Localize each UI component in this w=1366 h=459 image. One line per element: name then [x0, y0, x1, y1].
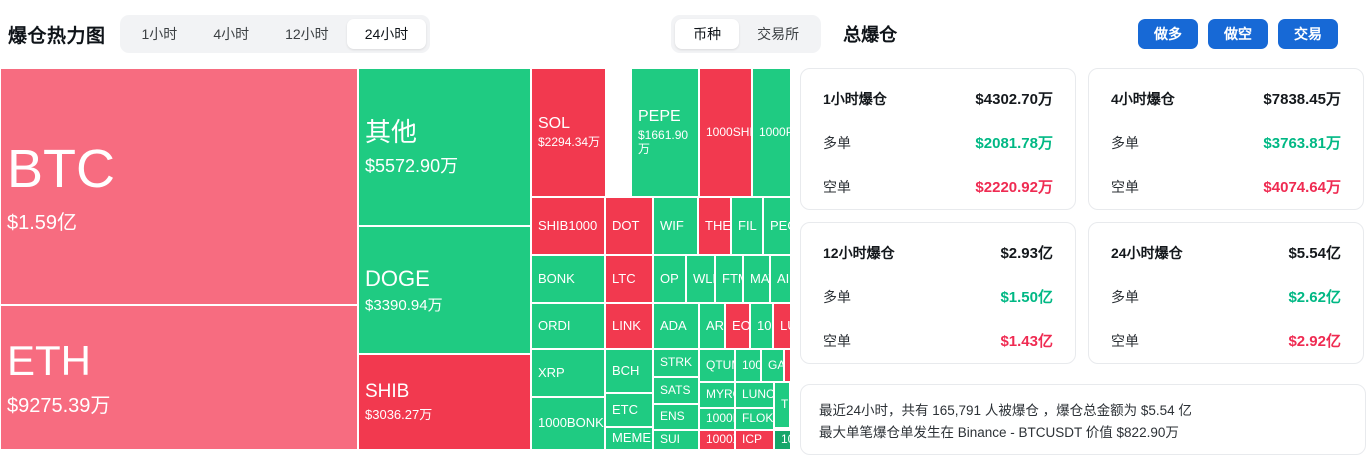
tile-value: $3390.94万 [365, 297, 530, 314]
stats-panel: 24小时爆仓$5.54亿多单$2.62亿空单$2.92亿12小时爆仓$2.93亿… [800, 68, 1366, 459]
tile-symbol: OP [660, 272, 685, 287]
treemap-tile-MEME[interactable]: MEME [605, 427, 653, 450]
tile-symbol: MYRO [706, 388, 734, 402]
treemap-tile-WIF[interactable]: WIF [653, 197, 698, 255]
treemap-tile-1000FLOKI[interactable]: 1000FLOKI [774, 430, 790, 450]
tile-symbol: THETA [705, 219, 730, 234]
stat-period-label: 12小时爆仓 [823, 243, 895, 263]
treemap-tile-ENS[interactable]: ENS [653, 404, 699, 430]
tile-symbol: 1000BONK [538, 416, 604, 431]
treemap-tile-PEOPLE[interactable]: PEOPLE [763, 197, 790, 255]
tile-symbol: AIDOGE [777, 272, 790, 287]
tile-value: $9275.39万 [7, 395, 357, 418]
tile-symbol: BONK [538, 272, 604, 287]
treemap-tile-QTUM[interactable]: QTUM [699, 349, 735, 382]
treemap-tile-DOGE[interactable]: DOGE$3390.94万 [358, 226, 531, 354]
summary-line-2: 最大单笔爆仓单发生在 Binance - BTCUSDT 价值 $822.90万 [819, 422, 1347, 444]
tile-symbol: SHIB [365, 381, 530, 403]
treemap-tile-AIDOGE[interactable]: AIDOGE [770, 255, 790, 303]
treemap-tile-ETC[interactable]: ETC [605, 393, 653, 427]
tile-symbol: 1000FLOKI [781, 433, 790, 447]
tile-symbol: LTC [612, 272, 652, 287]
tile-symbol: XRP [538, 366, 604, 381]
stat-short-value: $2.92亿 [1288, 330, 1341, 351]
tile-symbol: DOGE [365, 266, 530, 291]
tile-symbol: 1000SATS [757, 319, 772, 334]
stat-card-4小时爆仓: 4小时爆仓$7838.45万多单$3763.81万空单$4074.64万 [1088, 68, 1364, 210]
treemap-tile-SUI[interactable]: SUI [653, 430, 699, 450]
stat-row-long: 多单$1.50亿 [823, 286, 1053, 307]
treemap-tile-SOL[interactable]: SOL$2294.34万 [531, 68, 606, 197]
stat-total-value: $4302.70万 [975, 88, 1053, 109]
tile-symbol: GALA [768, 359, 783, 373]
stat-total-value: $2.93亿 [1000, 242, 1053, 263]
liquidation-heatmap-page: 爆仓热力图 1小时4小时12小时24小时 币种交易所 总爆仓 做多做空交易 BT… [0, 0, 1366, 459]
stat-card-12小时爆仓: 12小时爆仓$2.93亿多单$1.50亿空单$1.43亿 [800, 222, 1076, 364]
tile-symbol: LUNA [780, 319, 790, 334]
timeframe-tab-24小时[interactable]: 24小时 [347, 19, 427, 49]
treemap-tile-其他[interactable]: 其他$5572.90万 [358, 68, 531, 226]
action-button-做多[interactable]: 做多 [1138, 19, 1198, 49]
stat-row-long: 多单$3763.81万 [1111, 132, 1341, 153]
header-action-buttons: 做多做空交易 [1138, 19, 1350, 49]
tile-symbol: ICP [742, 433, 773, 447]
tile-symbol: BTC [7, 138, 357, 200]
tile-symbol: 1000BTT [742, 359, 760, 373]
stat-row-short: 空单$2.92亿 [1111, 330, 1341, 351]
treemap-tile-SATS[interactable]: SATS [653, 377, 699, 404]
tile-symbol: MATIC [750, 272, 769, 287]
treemap-tile-ETH[interactable]: ETH$9275.39万 [0, 305, 358, 450]
tile-symbol: BCH [612, 364, 652, 379]
stat-row-short: 空单$1.43亿 [823, 330, 1053, 351]
tile-value: $1661.90万 [638, 129, 698, 157]
liquidation-treemap[interactable]: BTC$1.59亿ETH$9275.39万其他$5572.90万DOGE$339… [0, 68, 790, 450]
timeframe-tab-4小时[interactable]: 4小时 [195, 19, 267, 49]
stat-short-value: $2220.92万 [975, 176, 1053, 197]
tile-symbol: WIF [660, 219, 697, 234]
treemap-tile-FIL[interactable]: FIL [731, 197, 763, 255]
stat-card-24小时爆仓: 24小时爆仓$5.54亿多单$2.62亿空单$2.92亿 [1088, 222, 1364, 364]
treemap-tile-LINK[interactable]: LINK [605, 303, 653, 349]
tile-symbol: SOL [538, 115, 605, 133]
tile-symbol: ETC [612, 403, 652, 418]
stat-long-value: $3763.81万 [1263, 132, 1341, 153]
tile-symbol: SUI [660, 433, 698, 447]
tile-symbol: WLD [693, 272, 714, 287]
treemap-tile-MATIC[interactable]: MATIC [743, 255, 770, 303]
treemap-tile-SHIB[interactable]: SHIB$3036.27万 [358, 354, 531, 450]
stat-row-total: 4小时爆仓$7838.45万 [1111, 88, 1341, 109]
action-button-交易[interactable]: 交易 [1278, 19, 1338, 49]
tile-symbol: LINK [612, 319, 652, 334]
stat-long-label: 多单 [823, 287, 851, 307]
tile-symbol: FTM [722, 272, 742, 287]
stat-long-value: $1.50亿 [1000, 286, 1053, 307]
tile-symbol: ORDI [538, 319, 604, 334]
treemap-tile-1000PEPE[interactable]: 1000PEPE$1173.00万 [752, 68, 790, 197]
page-title: 爆仓热力图 [8, 21, 106, 48]
tile-symbol: TIA [781, 398, 789, 412]
treemap-tile-BCH[interactable]: BCH [605, 349, 653, 393]
tile-value: $5572.90万 [365, 156, 530, 177]
stat-period-label: 4小时爆仓 [1111, 89, 1175, 109]
treemap-tile-1000SHIB[interactable]: 1000SHIB$1266.00万 [699, 68, 752, 197]
tile-symbol: 1000PEPE [759, 126, 790, 140]
treemap-tile-1000RATS[interactable]: 1000RATS [699, 408, 735, 430]
tile-symbol: PEOPLE [770, 219, 790, 234]
treemap-tile-XRP[interactable]: XRP [531, 349, 605, 397]
treemap-tile-BONK[interactable]: BONK [531, 255, 605, 303]
treemap-tile-ARB[interactable]: ARB [699, 303, 725, 349]
treemap-tile-1000BTT[interactable]: 1000BTT [735, 349, 761, 382]
treemap-tile-TIA[interactable]: TIA [774, 382, 790, 428]
grouping-tab-group: 币种交易所 [671, 15, 821, 53]
stat-card-1小时爆仓: 1小时爆仓$4302.70万多单$2081.78万空单$2220.92万 [800, 68, 1076, 210]
stat-long-label: 多单 [1111, 287, 1139, 307]
treemap-tile-ADA[interactable]: ADA [653, 303, 699, 349]
treemap-tile-FTM[interactable]: FTM [715, 255, 743, 303]
grouping-tab-交易所[interactable]: 交易所 [739, 19, 817, 49]
treemap-tile-GALA[interactable]: GALA [761, 349, 784, 382]
tile-symbol: SHIB1000 [538, 219, 604, 234]
tile-symbol: 其他 [365, 118, 530, 148]
stat-short-value: $1.43亿 [1000, 330, 1053, 351]
tile-symbol: ARB [706, 319, 724, 334]
tile-value: $3036.27万 [365, 408, 530, 423]
tile-symbol: LUNC [742, 388, 773, 402]
tile-symbol: ENS [660, 410, 698, 424]
summary-line-1: 最近24小时，共有 165,791 人被爆仓 ，爆仓总金额为 $5.54 亿 [819, 400, 1347, 422]
stat-total-value: $5.54亿 [1288, 242, 1341, 263]
grouping-tab-币种[interactable]: 币种 [675, 19, 739, 49]
treemap-tile-BTC[interactable]: BTC$1.59亿 [0, 68, 358, 305]
treemap-tile-1000XEC[interactable]: 1000XEC [699, 430, 735, 450]
stat-row-total: 24小时爆仓$5.54亿 [1111, 242, 1341, 263]
treemap-tile-OP[interactable]: OP [653, 255, 686, 303]
treemap-tile-LTC[interactable]: LTC [605, 255, 653, 303]
page-header: 爆仓热力图 1小时4小时12小时24小时 币种交易所 总爆仓 做多做空交易 [0, 0, 1366, 68]
tile-symbol: 1000XEC [706, 433, 734, 447]
treemap-tile-DYDX[interactable]: DYDX [784, 349, 790, 382]
summary-card: 最近24小时，共有 165,791 人被爆仓 ，爆仓总金额为 $5.54 亿 最… [800, 384, 1366, 455]
treemap-tile-1000BONK[interactable]: 1000BONK [531, 397, 605, 450]
tile-symbol: PEPE [638, 108, 698, 126]
tile-symbol: SATS [660, 384, 698, 398]
tile-symbol: ETH [7, 337, 357, 385]
stat-short-label: 空单 [823, 177, 851, 197]
header-center-group: 币种交易所 总爆仓 [671, 15, 897, 53]
stat-long-label: 多单 [1111, 133, 1139, 153]
tile-symbol: 1000SHIB [706, 126, 751, 140]
stat-row-long: 多单$2081.78万 [823, 132, 1053, 153]
stat-row-total: 1小时爆仓$4302.70万 [823, 88, 1053, 109]
stat-period-label: 1小时爆仓 [823, 89, 887, 109]
stat-short-label: 空单 [1111, 177, 1139, 197]
treemap-tile-STRK[interactable]: STRK [653, 349, 699, 377]
treemap-tile-ORDI[interactable]: ORDI [531, 303, 605, 349]
treemap-tile-SHIB1000[interactable]: SHIB1000 [531, 197, 605, 255]
tile-symbol: DOT [612, 219, 652, 234]
stat-short-label: 空单 [823, 331, 851, 351]
treemap-tile-WLD[interactable]: WLD [686, 255, 715, 303]
stat-long-value: $2.62亿 [1288, 286, 1341, 307]
treemap-tile-PEPE[interactable]: PEPE$1661.90万 [631, 68, 699, 197]
stat-row-short: 空单$2220.92万 [823, 176, 1053, 197]
treemap-tile-ICP[interactable]: ICP [735, 430, 774, 450]
timeframe-tab-1小时[interactable]: 1小时 [124, 19, 196, 49]
stat-row-long: 多单$2.62亿 [1111, 286, 1341, 307]
treemap-tile-THETA[interactable]: THETA [698, 197, 731, 255]
treemap-tile-FLOKI[interactable]: FLOKI [735, 408, 774, 430]
tile-symbol: MEME [612, 431, 652, 446]
stat-short-label: 空单 [1111, 331, 1139, 351]
tile-symbol: EOS [732, 319, 749, 334]
tile-value: $2294.34万 [538, 136, 605, 150]
tile-symbol: STRK [660, 356, 698, 370]
stat-long-value: $2081.78万 [975, 132, 1053, 153]
timeframe-tab-group: 1小时4小时12小时24小时 [120, 15, 431, 53]
tile-symbol: FLOKI [742, 412, 773, 426]
tile-symbol: FIL [738, 219, 762, 234]
treemap-tile-1000SATS[interactable]: 1000SATS [750, 303, 773, 349]
timeframe-tab-12小时[interactable]: 12小时 [267, 19, 347, 49]
tile-value: $1.59亿 [7, 212, 357, 235]
action-button-做空[interactable]: 做空 [1208, 19, 1268, 49]
stat-long-label: 多单 [823, 133, 851, 153]
stat-period-label: 24小时爆仓 [1111, 243, 1183, 263]
stat-short-value: $4074.64万 [1263, 176, 1341, 197]
tile-symbol: QTUM [706, 359, 734, 373]
stat-total-value: $7838.45万 [1263, 88, 1341, 109]
treemap-tile-LUNA[interactable]: LUNA [773, 303, 790, 349]
page-body: BTC$1.59亿ETH$9275.39万其他$5572.90万DOGE$339… [0, 68, 1366, 459]
stat-row-total: 12小时爆仓$2.93亿 [823, 242, 1053, 263]
tile-symbol: ADA [660, 319, 698, 334]
total-liquidation-title: 总爆仓 [843, 21, 897, 47]
stat-row-short: 空单$4074.64万 [1111, 176, 1341, 197]
treemap-tile-DOT[interactable]: DOT [605, 197, 653, 255]
tile-symbol: 1000RATS [706, 412, 734, 426]
treemap-tile-MYRO[interactable]: MYRO [699, 382, 735, 408]
treemap-tile-LUNC[interactable]: LUNC [735, 382, 774, 408]
treemap-tile-EOS[interactable]: EOS [725, 303, 750, 349]
